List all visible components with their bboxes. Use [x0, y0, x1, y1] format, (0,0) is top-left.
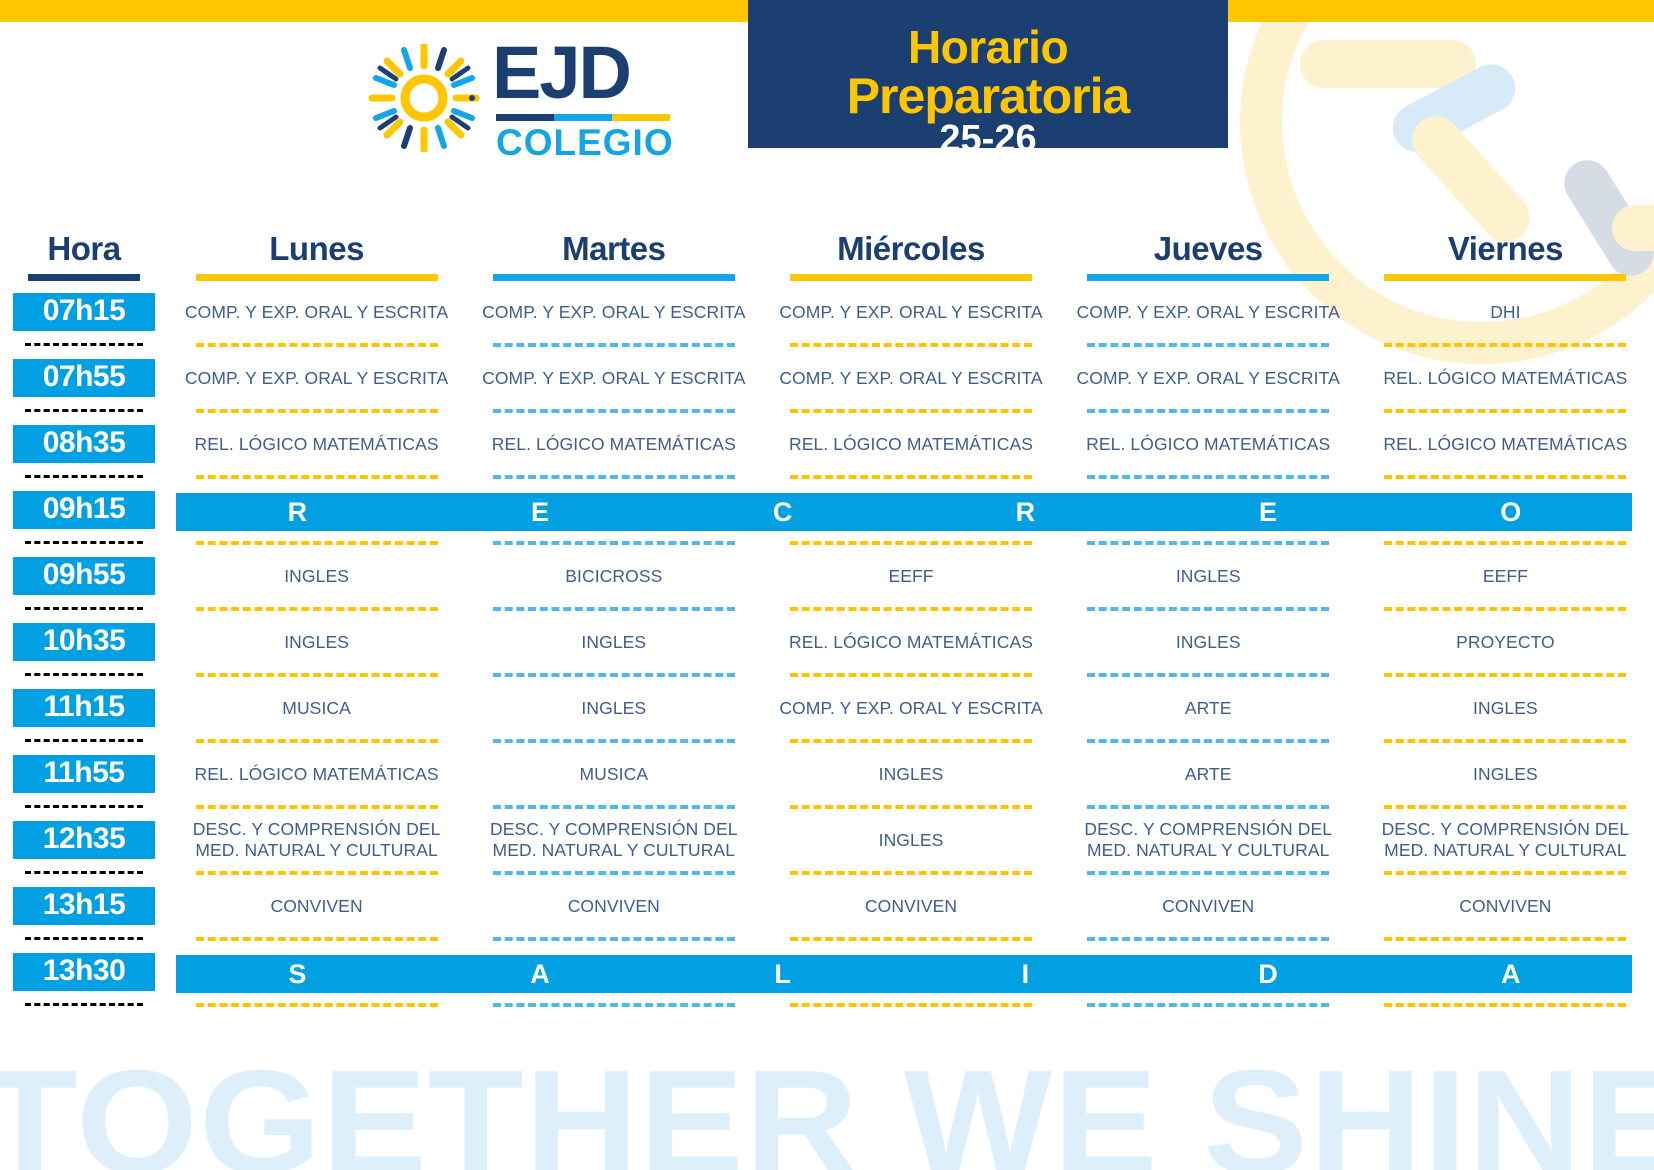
row-separator: [25, 673, 143, 676]
schedule-cell-text: ARTE: [1060, 677, 1357, 739]
schedule-cell: CONVIVEN: [168, 875, 465, 941]
schedule-cell: REL. LÓGICO MATEMÁTICAS: [762, 413, 1059, 479]
time-cell: 09h15: [0, 479, 168, 545]
schedule-cell-text: INGLES: [762, 809, 1059, 871]
brand-underline: [496, 114, 670, 121]
schedule-cell-text: COMP. Y EXP. ORAL Y ESCRITA: [465, 281, 762, 343]
schedule-cell-text: COMP. Y EXP. ORAL Y ESCRITA: [1060, 281, 1357, 343]
time-cell: 09h55: [0, 545, 168, 611]
time-badge: 13h15: [13, 887, 155, 925]
banner-letter: D: [1147, 955, 1390, 993]
schedule-cell-text: CONVIVEN: [762, 875, 1059, 937]
schedule-cell: DESC. Y COMPRENSIÓN DELMED. NATURAL Y CU…: [1357, 809, 1654, 875]
time-badge: 10h35: [13, 623, 155, 661]
time-cell: 11h55: [0, 743, 168, 809]
row-separator: [25, 343, 143, 346]
schedule-cell-text: DESC. Y COMPRENSIÓN DELMED. NATURAL Y CU…: [1357, 809, 1654, 871]
table-body: 07h15COMP. Y EXP. ORAL Y ESCRITACOMP. Y …: [0, 281, 1654, 1007]
schedule-cell-text: REL. LÓGICO MATEMÁTICAS: [465, 413, 762, 475]
schedule-cell-text: EEFF: [762, 545, 1059, 607]
schedule-cell-text: CONVIVEN: [465, 875, 762, 937]
row-separator: [196, 1003, 438, 1007]
schedule-cell-text: DHI: [1357, 281, 1654, 343]
schedule-cell-text: INGLES: [1357, 677, 1654, 739]
time-badge: 11h55: [13, 755, 155, 793]
schedule-cell: INGLES: [465, 611, 762, 677]
schedule-cell: DESC. Y COMPRENSIÓN DELMED. NATURAL Y CU…: [465, 809, 762, 875]
schedule-cell: EEFF: [1357, 545, 1654, 611]
banner-letter: L: [661, 955, 904, 993]
schedule-cell: MUSICA: [465, 743, 762, 809]
row-separator: [25, 607, 143, 610]
schedule-cell-text: REL. LÓGICO MATEMÁTICAS: [762, 611, 1059, 673]
schedule-cell-text: COMP. Y EXP. ORAL Y ESCRITA: [168, 281, 465, 343]
table-row: 07h15COMP. Y EXP. ORAL Y ESCRITACOMP. Y …: [0, 281, 1654, 347]
schedule-cell: REL. LÓGICO MATEMÁTICAS: [1357, 413, 1654, 479]
banner-letter: C: [661, 493, 904, 531]
schedule-cell-text: INGLES: [1060, 545, 1357, 607]
time-cell-inner: 09h55: [0, 545, 168, 607]
column-header-lunes: Lunes: [168, 232, 465, 281]
banner-letter: I: [904, 955, 1147, 993]
time-badge: 08h35: [13, 425, 155, 463]
schedule-cell-text: DESC. Y COMPRENSIÓN DELMED. NATURAL Y CU…: [168, 809, 465, 871]
table-row: 12h35DESC. Y COMPRENSIÓN DELMED. NATURAL…: [0, 809, 1654, 875]
schedule-cell-text: INGLES: [1357, 743, 1654, 805]
row-separator: [790, 541, 1032, 545]
schedule-cell: BICICROSS: [465, 545, 762, 611]
row-separator: [25, 937, 143, 940]
banner-salida: SALIDA: [176, 955, 1632, 993]
column-header-rule: [1384, 274, 1626, 281]
time-cell-inner: 10h35: [0, 611, 168, 673]
brand-name: EJD: [492, 36, 630, 110]
row-separator: [493, 541, 735, 545]
schedule-table: HoraLunesMartesMiércolesJuevesViernes 07…: [0, 232, 1654, 1007]
schedule-cell: COMP. Y EXP. ORAL Y ESCRITA: [168, 281, 465, 347]
table-row: 11h15MUSICAINGLESCOMP. Y EXP. ORAL Y ESC…: [0, 677, 1654, 743]
schedule-cell: CONVIVEN: [1357, 875, 1654, 941]
table-row: 08h35REL. LÓGICO MATEMÁTICASREL. LÓGICO …: [0, 413, 1654, 479]
row-separator: [790, 1003, 1032, 1007]
table-row: 10h35INGLESINGLESREL. LÓGICO MATEMÁTICAS…: [0, 611, 1654, 677]
schedule-poster: TOGETHER WE SHINE: [0, 0, 1654, 1170]
column-header-mircoles: Miércoles: [762, 232, 1059, 281]
title-line-3: 25-26: [748, 120, 1228, 158]
time-cell-inner: 07h55: [0, 347, 168, 409]
row-separator: [25, 871, 143, 874]
banner-letter: R: [176, 493, 419, 531]
schedule-cell: ARTE: [1060, 677, 1357, 743]
schedule-cell-text: DESC. Y COMPRENSIÓN DELMED. NATURAL Y CU…: [465, 809, 762, 871]
schedule-cell: CONVIVEN: [465, 875, 762, 941]
time-cell: 08h35: [0, 413, 168, 479]
schedule-cell: REL. LÓGICO MATEMÁTICAS: [168, 413, 465, 479]
time-cell: 12h35: [0, 809, 168, 875]
time-cell: 13h15: [0, 875, 168, 941]
schedule-cell-text: COMP. Y EXP. ORAL Y ESCRITA: [1060, 347, 1357, 409]
schedule-cell: INGLES: [168, 611, 465, 677]
schedule-cell: INGLES: [1060, 545, 1357, 611]
banner-letter: S: [176, 955, 419, 993]
row-separator: [25, 541, 143, 544]
row-separator: [1384, 541, 1626, 545]
time-cell: 07h55: [0, 347, 168, 413]
schedule-cell-text: INGLES: [762, 743, 1059, 805]
schedule-cell-text: INGLES: [465, 677, 762, 739]
table-row: 09h55INGLESBICICROSSEEFFINGLESEEFF: [0, 545, 1654, 611]
time-cell: 11h15: [0, 677, 168, 743]
schedule-cell-text: INGLES: [1060, 611, 1357, 673]
column-header-rule: [196, 274, 438, 281]
schedule-cell-text: COMP. Y EXP. ORAL Y ESCRITA: [465, 347, 762, 409]
column-header-label: Lunes: [168, 232, 465, 274]
table-row: 11h55REL. LÓGICO MATEMÁTICASMUSICAINGLES…: [0, 743, 1654, 809]
column-header-rule: [493, 274, 735, 281]
schedule-cell-text: PROYECTO: [1357, 611, 1654, 673]
schedule-cell: PROYECTO: [1357, 611, 1654, 677]
time-badge: 13h30: [13, 953, 155, 991]
schedule-cell-text: COMP. Y EXP. ORAL Y ESCRITA: [762, 347, 1059, 409]
table-row: 13h30 SALIDA: [0, 941, 1654, 1007]
schedule-cell: DESC. Y COMPRENSIÓN DELMED. NATURAL Y CU…: [168, 809, 465, 875]
schedule-cell-text: MUSICA: [465, 743, 762, 805]
column-header-label: Jueves: [1060, 232, 1357, 274]
schedule-cell: REL. LÓGICO MATEMÁTICAS: [762, 611, 1059, 677]
schedule-cell: INGLES: [762, 809, 1059, 875]
row-separator: [493, 1003, 735, 1007]
banner-letter: R: [904, 493, 1147, 531]
title-line-1: Horario: [748, 24, 1228, 70]
schedule-cell: EEFF: [762, 545, 1059, 611]
column-header-rule: [1087, 274, 1329, 281]
banner-letter: O: [1389, 493, 1632, 531]
schedule-cell-text: CONVIVEN: [168, 875, 465, 937]
schedule-cell-text: REL. LÓGICO MATEMÁTICAS: [1357, 413, 1654, 475]
column-header-rule: [28, 274, 140, 281]
schedule-cell: CONVIVEN: [1060, 875, 1357, 941]
schedule-cell: COMP. Y EXP. ORAL Y ESCRITA: [762, 347, 1059, 413]
row-separator: [25, 1003, 143, 1006]
row-separator: [1087, 1003, 1329, 1007]
schedule-cell: COMP. Y EXP. ORAL Y ESCRITA: [762, 677, 1059, 743]
schedule-cell-text: REL. LÓGICO MATEMÁTICAS: [1357, 347, 1654, 409]
schedule-cell: MUSICA: [168, 677, 465, 743]
schedule-cell-text: CONVIVEN: [1060, 875, 1357, 937]
banner-letter: A: [1389, 955, 1632, 993]
schedule-cell-text: COMP. Y EXP. ORAL Y ESCRITA: [168, 347, 465, 409]
schedule-cell-text: INGLES: [168, 611, 465, 673]
schedule-cell-text: REL. LÓGICO MATEMÁTICAS: [168, 413, 465, 475]
time-cell: 07h15: [0, 281, 168, 347]
sun-icon: [364, 44, 484, 152]
row-separator: [1384, 1003, 1626, 1007]
time-badge: 12h35: [13, 821, 155, 859]
table-row: 13h15CONVIVENCONVIVENCONVIVENCONVIVENCON…: [0, 875, 1654, 941]
schedule-cell-text: DESC. Y COMPRENSIÓN DELMED. NATURAL Y CU…: [1060, 809, 1357, 871]
schedule-cell: COMP. Y EXP. ORAL Y ESCRITA: [465, 281, 762, 347]
column-header-martes: Martes: [465, 232, 762, 281]
row-separator: [1087, 541, 1329, 545]
time-badge: 11h15: [13, 689, 155, 727]
banner-letter: A: [419, 955, 662, 993]
row-separator: [25, 409, 143, 412]
schedule-cell-text: INGLES: [465, 611, 762, 673]
schedule-cell: COMP. Y EXP. ORAL Y ESCRITA: [762, 281, 1059, 347]
schedule-cell: COMP. Y EXP. ORAL Y ESCRITA: [168, 347, 465, 413]
row-separator: [196, 541, 438, 545]
schedule-cell: REL. LÓGICO MATEMÁTICAS: [168, 743, 465, 809]
title-banner: Horario Preparatoria 25-26: [748, 0, 1228, 148]
time-badge: 07h15: [13, 293, 155, 331]
time-cell-inner: 08h35: [0, 413, 168, 475]
time-cell-inner: 09h15: [0, 479, 168, 541]
row-separator: [25, 475, 143, 478]
time-badge: 09h55: [13, 557, 155, 595]
time-cell-inner: 13h30: [0, 941, 168, 1003]
school-logo: EJD COLEGIO: [362, 30, 682, 155]
schedule-cell-text: EEFF: [1357, 545, 1654, 607]
schedule-cell: INGLES: [762, 743, 1059, 809]
schedule-cell: ARTE: [1060, 743, 1357, 809]
schedule-cell: INGLES: [1357, 743, 1654, 809]
column-header-rule: [790, 274, 1032, 281]
column-header-hora: Hora: [0, 232, 168, 281]
time-cell-inner: 13h15: [0, 875, 168, 937]
schedule-cell-text: ARTE: [1060, 743, 1357, 805]
time-cell-inner: 12h35: [0, 809, 168, 871]
row-separator: [25, 805, 143, 808]
column-header-label: Miércoles: [762, 232, 1059, 274]
decorative-pill-yellow-1: [1300, 40, 1476, 88]
schedule-cell-text: MUSICA: [168, 677, 465, 739]
table-row: 07h55COMP. Y EXP. ORAL Y ESCRITACOMP. Y …: [0, 347, 1654, 413]
banner-letter: E: [419, 493, 662, 531]
schedule-cell: INGLES: [168, 545, 465, 611]
schedule-cell: REL. LÓGICO MATEMÁTICAS: [1060, 413, 1357, 479]
schedule-cell-text: COMP. Y EXP. ORAL Y ESCRITA: [762, 281, 1059, 343]
time-cell-inner: 07h15: [0, 281, 168, 343]
time-cell: 13h30: [0, 941, 168, 1007]
time-badge: 09h15: [13, 491, 155, 529]
column-header-label: Hora: [0, 232, 168, 274]
column-header-viernes: Viernes: [1357, 232, 1654, 281]
time-cell-inner: 11h55: [0, 743, 168, 805]
schedule-cell-text: CONVIVEN: [1357, 875, 1654, 937]
schedule-cell-text: COMP. Y EXP. ORAL Y ESCRITA: [762, 677, 1059, 739]
column-header-label: Martes: [465, 232, 762, 274]
column-header-label: Viernes: [1357, 232, 1654, 274]
time-cell: 10h35: [0, 611, 168, 677]
banner-letter: E: [1147, 493, 1390, 531]
schedule-cell: DHI: [1357, 281, 1654, 347]
table-header-row: HoraLunesMartesMiércolesJuevesViernes: [0, 232, 1654, 281]
time-badge: 07h55: [13, 359, 155, 397]
table-row: 09h15 RECREO: [0, 479, 1654, 545]
schedule-cell-text: REL. LÓGICO MATEMÁTICAS: [1060, 413, 1357, 475]
column-header-jueves: Jueves: [1060, 232, 1357, 281]
time-cell-inner: 11h15: [0, 677, 168, 739]
schedule-cell-text: REL. LÓGICO MATEMÁTICAS: [762, 413, 1059, 475]
schedule-cell: REL. LÓGICO MATEMÁTICAS: [1357, 347, 1654, 413]
schedule-cell: INGLES: [1060, 611, 1357, 677]
schedule-cell: DESC. Y COMPRENSIÓN DELMED. NATURAL Y CU…: [1060, 809, 1357, 875]
watermark-text: TOGETHER WE SHINE: [0, 1038, 1654, 1170]
schedule-cell: CONVIVEN: [762, 875, 1059, 941]
schedule-cell: COMP. Y EXP. ORAL Y ESCRITA: [1060, 281, 1357, 347]
brand-subtitle: COLEGIO: [496, 122, 674, 164]
schedule-cell-text: REL. LÓGICO MATEMÁTICAS: [168, 743, 465, 805]
schedule-cell-text: INGLES: [168, 545, 465, 607]
schedule-cell-text: BICICROSS: [465, 545, 762, 607]
banner-recreo: RECREO: [176, 493, 1632, 531]
schedule-cell: INGLES: [1357, 677, 1654, 743]
schedule-cell: INGLES: [465, 677, 762, 743]
schedule-cell: COMP. Y EXP. ORAL Y ESCRITA: [1060, 347, 1357, 413]
title-line-2: Preparatoria: [748, 70, 1228, 122]
schedule-cell: REL. LÓGICO MATEMÁTICAS: [465, 413, 762, 479]
row-separator: [25, 739, 143, 742]
schedule-cell: COMP. Y EXP. ORAL Y ESCRITA: [465, 347, 762, 413]
